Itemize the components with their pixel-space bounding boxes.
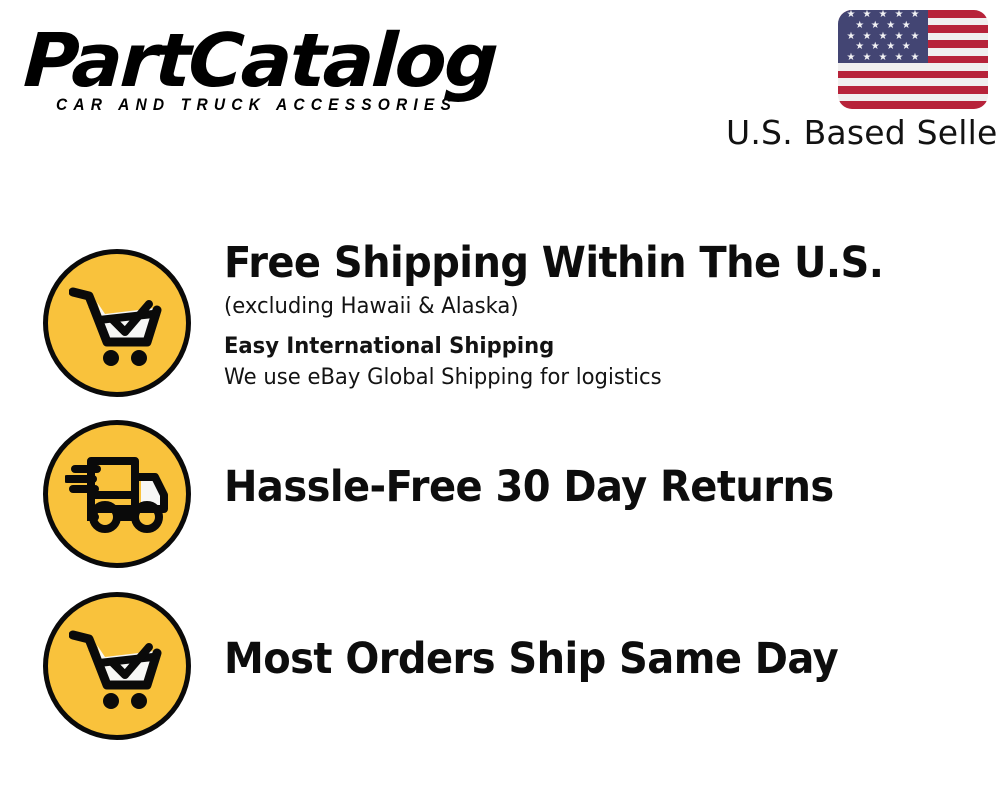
feature-title: Free Shipping Within The U.S. [224, 240, 875, 286]
us-based-seller-badge: ★★★★★ ★★★★ ★★★★★ ★★★★ ★★★★★ U.S. Based S… [726, 10, 988, 151]
brand-wordmark: PartCatalog [22, 26, 505, 96]
feature-row: Free Shipping Within The U.S. (excluding… [0, 232, 1000, 404]
promo-banner: PartCatalog CAR AND TRUCK ACCESSORIES [0, 0, 1000, 800]
brand-logo: PartCatalog CAR AND TRUCK ACCESSORIES [24, 26, 494, 115]
feature-subtitle-exclusion: (excluding Hawaii & Alaska) [224, 294, 896, 320]
feature-title: Hassle-Free 30 Day Returns [224, 464, 875, 510]
brand-tagline: CAR AND TRUCK ACCESSORIES [56, 97, 494, 116]
feature-subtitle-logistics: We use eBay Global Shipping for logistic… [224, 365, 896, 391]
delivery-truck-icon [43, 420, 191, 568]
us-based-seller-label: U.S. Based Seller [726, 115, 988, 151]
feature-row: Hassle-Free 30 Day Returns [0, 404, 1000, 576]
feature-list: Free Shipping Within The U.S. (excluding… [0, 232, 1000, 748]
feature-title: Most Orders Ship Same Day [224, 636, 875, 682]
feature-text: Hassle-Free 30 Day Returns [224, 464, 924, 510]
banner-header: PartCatalog CAR AND TRUCK ACCESSORIES [0, 0, 1000, 175]
feature-subtitle-international: Easy International Shipping [224, 334, 896, 360]
shopping-cart-check-icon [43, 592, 191, 740]
feature-text: Free Shipping Within The U.S. (excluding… [224, 240, 924, 391]
us-flag-icon: ★★★★★ ★★★★ ★★★★★ ★★★★ ★★★★★ [838, 10, 988, 109]
flag-canton: ★★★★★ ★★★★ ★★★★★ ★★★★ ★★★★★ [838, 10, 928, 63]
shopping-cart-check-icon [43, 249, 191, 397]
feature-row: Most Orders Ship Same Day [0, 576, 1000, 748]
feature-text: Most Orders Ship Same Day [224, 636, 924, 682]
